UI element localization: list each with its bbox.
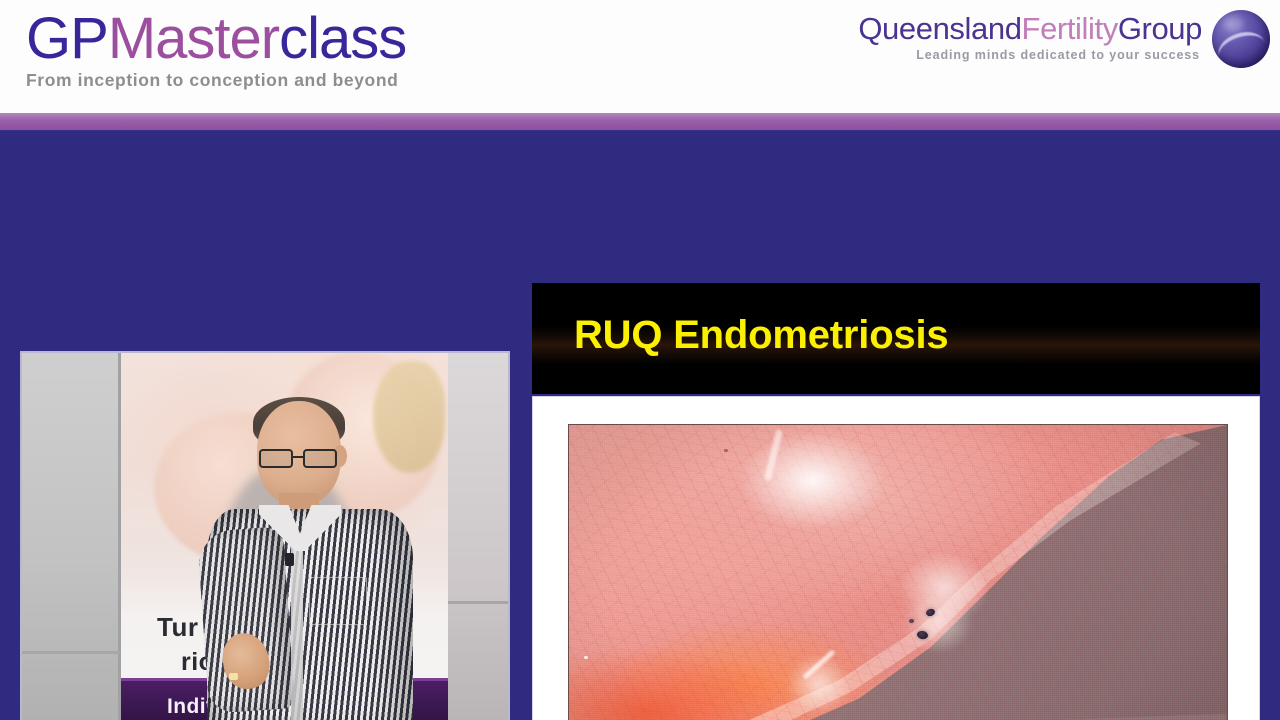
presenter-ring [229,673,238,680]
poster-headline-line1: Tur [157,612,198,643]
wordmark-mas: Mas [108,6,215,71]
presenter-shirt-placket [291,541,303,720]
slide-content-area [532,396,1260,720]
queensland-fertility-group-logo: QueenslandFertilityGroup Leading minds d… [858,8,1270,88]
wordmark-gp: GP [26,6,108,71]
qfg-tagline: Leading minds dedicated to your success [858,48,1202,62]
sphere-highlight [1224,17,1244,31]
slide-title-bar: RUQ Endometriosis [532,283,1260,394]
glasses-lens-right [303,449,337,468]
qfg-wordmark: QueenslandFertilityGroup [858,12,1202,46]
purple-sphere-icon [1212,10,1270,68]
gp-masterclass-tagline: From inception to conception and beyond [26,70,546,91]
wordmark-class: class [279,6,406,71]
presentation-screen: GPMasterclass From inception to concepti… [0,0,1280,720]
studio-wall-seam-horizontal [22,651,120,654]
header-divider-band [0,113,1280,130]
wordmark-ter: ter [214,6,279,71]
slide-panel[interactable]: RUQ Endometriosis [532,283,1260,720]
content-area: Tur rio Individua [0,131,1280,720]
laparoscopic-endometriosis-photo [568,424,1228,720]
gp-masterclass-logo: GPMasterclass From inception to concepti… [26,6,546,110]
qfg-text-block: QueenslandFertilityGroup Leading minds d… [858,8,1202,62]
presenter-shirt-pocket [309,577,367,625]
presenter-glasses-icon [259,449,341,469]
presenter-figure [197,401,417,720]
header-bar: GPMasterclass From inception to concepti… [0,0,1280,113]
wordmark-fertility: Fertility [1022,11,1118,46]
studio-wall-left [22,353,120,720]
wordmark-queensland: Queensland [858,11,1021,46]
image-vignette [569,425,1227,720]
presenter-lapel-microphone-icon [285,553,294,566]
gp-masterclass-wordmark: GPMasterclass [26,6,546,72]
presenter-video-feed[interactable]: Tur rio Individua [20,351,510,720]
slide-title: RUQ Endometriosis [574,313,948,358]
wordmark-group: Group [1118,11,1202,46]
glasses-bridge [293,456,303,458]
glasses-lens-left [259,449,293,468]
